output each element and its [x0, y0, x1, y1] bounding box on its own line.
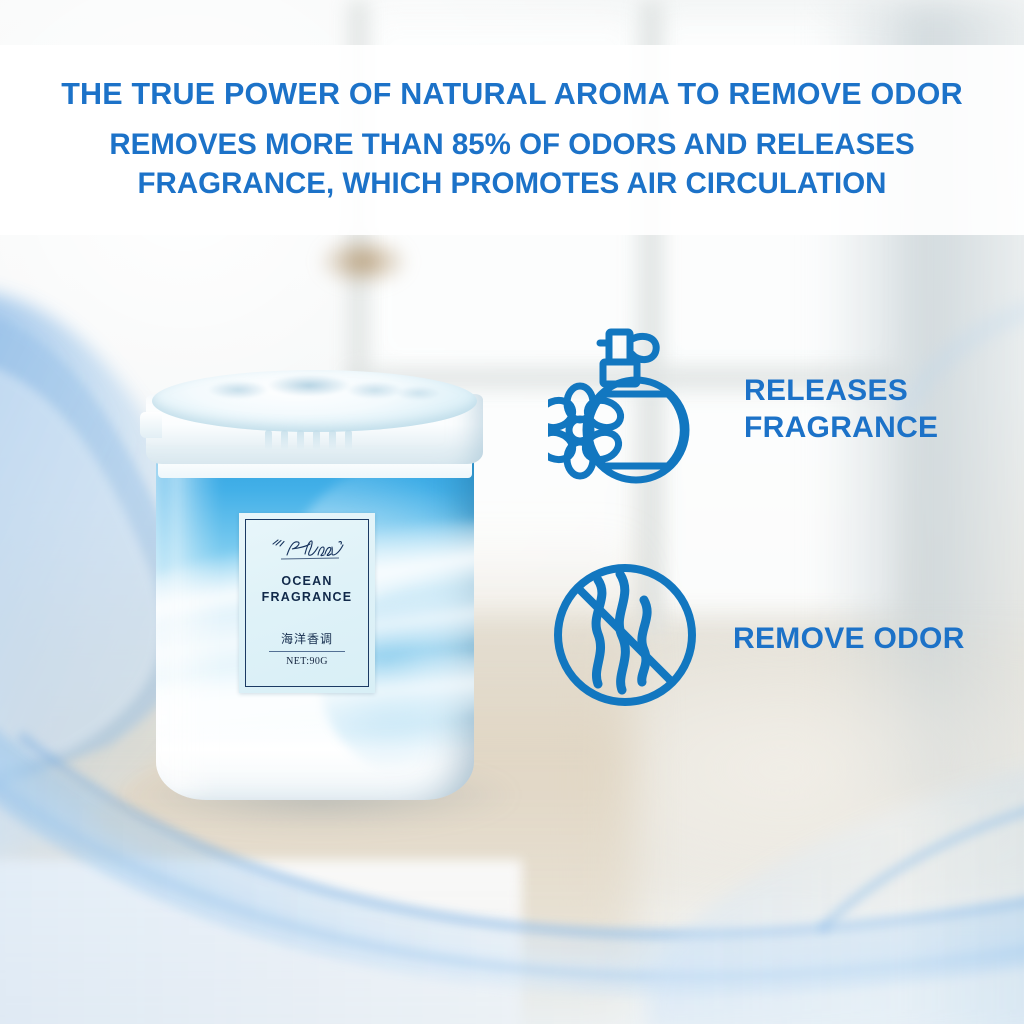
- lid-ridges: [265, 430, 357, 450]
- lid-tab: [140, 412, 162, 438]
- feature-label-remove-odor: REMOVE ODOR: [733, 620, 965, 657]
- jar-highlight: [169, 447, 220, 793]
- feature-label-line2: FRAGRANCE: [744, 409, 938, 446]
- feature-label-line1: REMOVE ODOR: [733, 620, 965, 657]
- feature-releases-fragrance: RELEASES FRAGRANCE: [548, 322, 938, 495]
- feature-label-line1: RELEASES: [744, 372, 938, 409]
- promo-banner-image: OCEAN FRAGRANCE 海洋香调 NET:90G THE TRUE PO…: [0, 0, 1024, 1024]
- product-name: OCEAN FRAGRANCE: [262, 573, 353, 605]
- lid-top: [152, 370, 477, 432]
- product-label: OCEAN FRAGRANCE 海洋香调 NET:90G: [239, 513, 375, 693]
- no-odor-icon: [548, 558, 703, 718]
- lid-emboss-pattern: [178, 375, 451, 408]
- headline-line-2a: REMOVES MORE THAN 85% OF ODORS AND RELEA…: [109, 125, 914, 164]
- headline-line-2b: FRAGRANCE, WHICH PROMOTES AIR CIRCULATIO…: [109, 164, 914, 203]
- label-divider: [269, 651, 345, 652]
- feature-label-releases-fragrance: RELEASES FRAGRANCE: [744, 372, 938, 446]
- product-name-chinese: 海洋香调: [239, 630, 375, 647]
- product-jar: OCEAN FRAGRANCE 海洋香调 NET:90G: [142, 368, 487, 810]
- headline-banner: THE TRUE POWER OF NATURAL AROMA TO REMOV…: [0, 45, 1024, 235]
- jar-lid: [142, 368, 487, 464]
- headline-line-1: THE TRUE POWER OF NATURAL AROMA TO REMOV…: [61, 77, 963, 112]
- product-name-line2: FRAGRANCE: [262, 589, 353, 605]
- headline-line-2: REMOVES MORE THAN 85% OF ODORS AND RELEA…: [109, 125, 914, 203]
- brand-logo: [261, 535, 353, 563]
- feature-remove-odor: REMOVE ODOR: [548, 558, 965, 718]
- net-weight: NET:90G: [239, 656, 375, 667]
- perfume-bottle-flower-icon: [548, 322, 698, 495]
- product-name-line1: OCEAN: [262, 573, 353, 589]
